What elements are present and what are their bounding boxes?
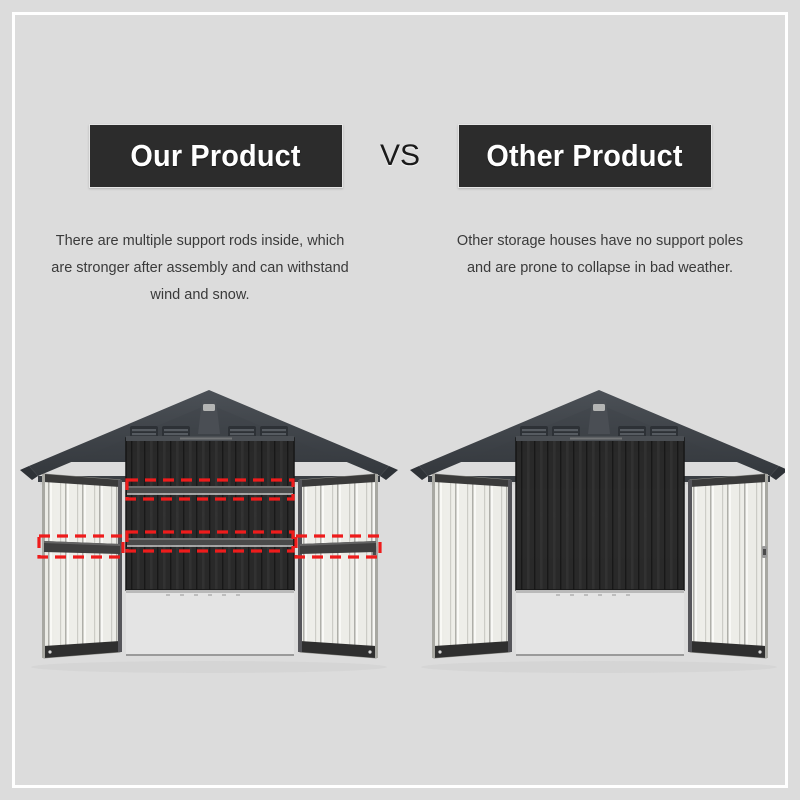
- description-text-our-product: There are multiple support rods inside, …: [45, 228, 355, 309]
- interior-support-rod-lower: [127, 538, 293, 547]
- description-text-other-product: Other storage houses have no support pol…: [445, 228, 755, 282]
- shed-door-left: [432, 474, 512, 658]
- shed-illustration-row: [0, 378, 800, 688]
- comparison-description-row: There are multiple support rods inside, …: [0, 228, 800, 309]
- vs-separator-label: VS: [343, 139, 458, 173]
- shed-illustration-our-product: [14, 378, 404, 678]
- shed-door-right: [298, 474, 378, 658]
- description-column-our-product: There are multiple support rods inside, …: [0, 228, 400, 309]
- shed-door-right: [688, 474, 768, 658]
- shed-illustration-other-product: [404, 378, 794, 678]
- heading-label-our-product: Our Product: [130, 138, 300, 174]
- interior-support-rod-upper: [127, 486, 293, 495]
- heading-label-other-product: Other Product: [486, 138, 682, 174]
- heading-box-our-product: Our Product: [89, 124, 343, 188]
- shed-door-left: [42, 474, 122, 658]
- description-column-other-product: Other storage houses have no support pol…: [400, 228, 800, 309]
- product-comparison-image: Our Product VS Other Product There are m…: [0, 0, 800, 800]
- comparison-heading-row: Our Product VS Other Product: [0, 117, 800, 195]
- heading-box-other-product: Other Product: [458, 124, 712, 188]
